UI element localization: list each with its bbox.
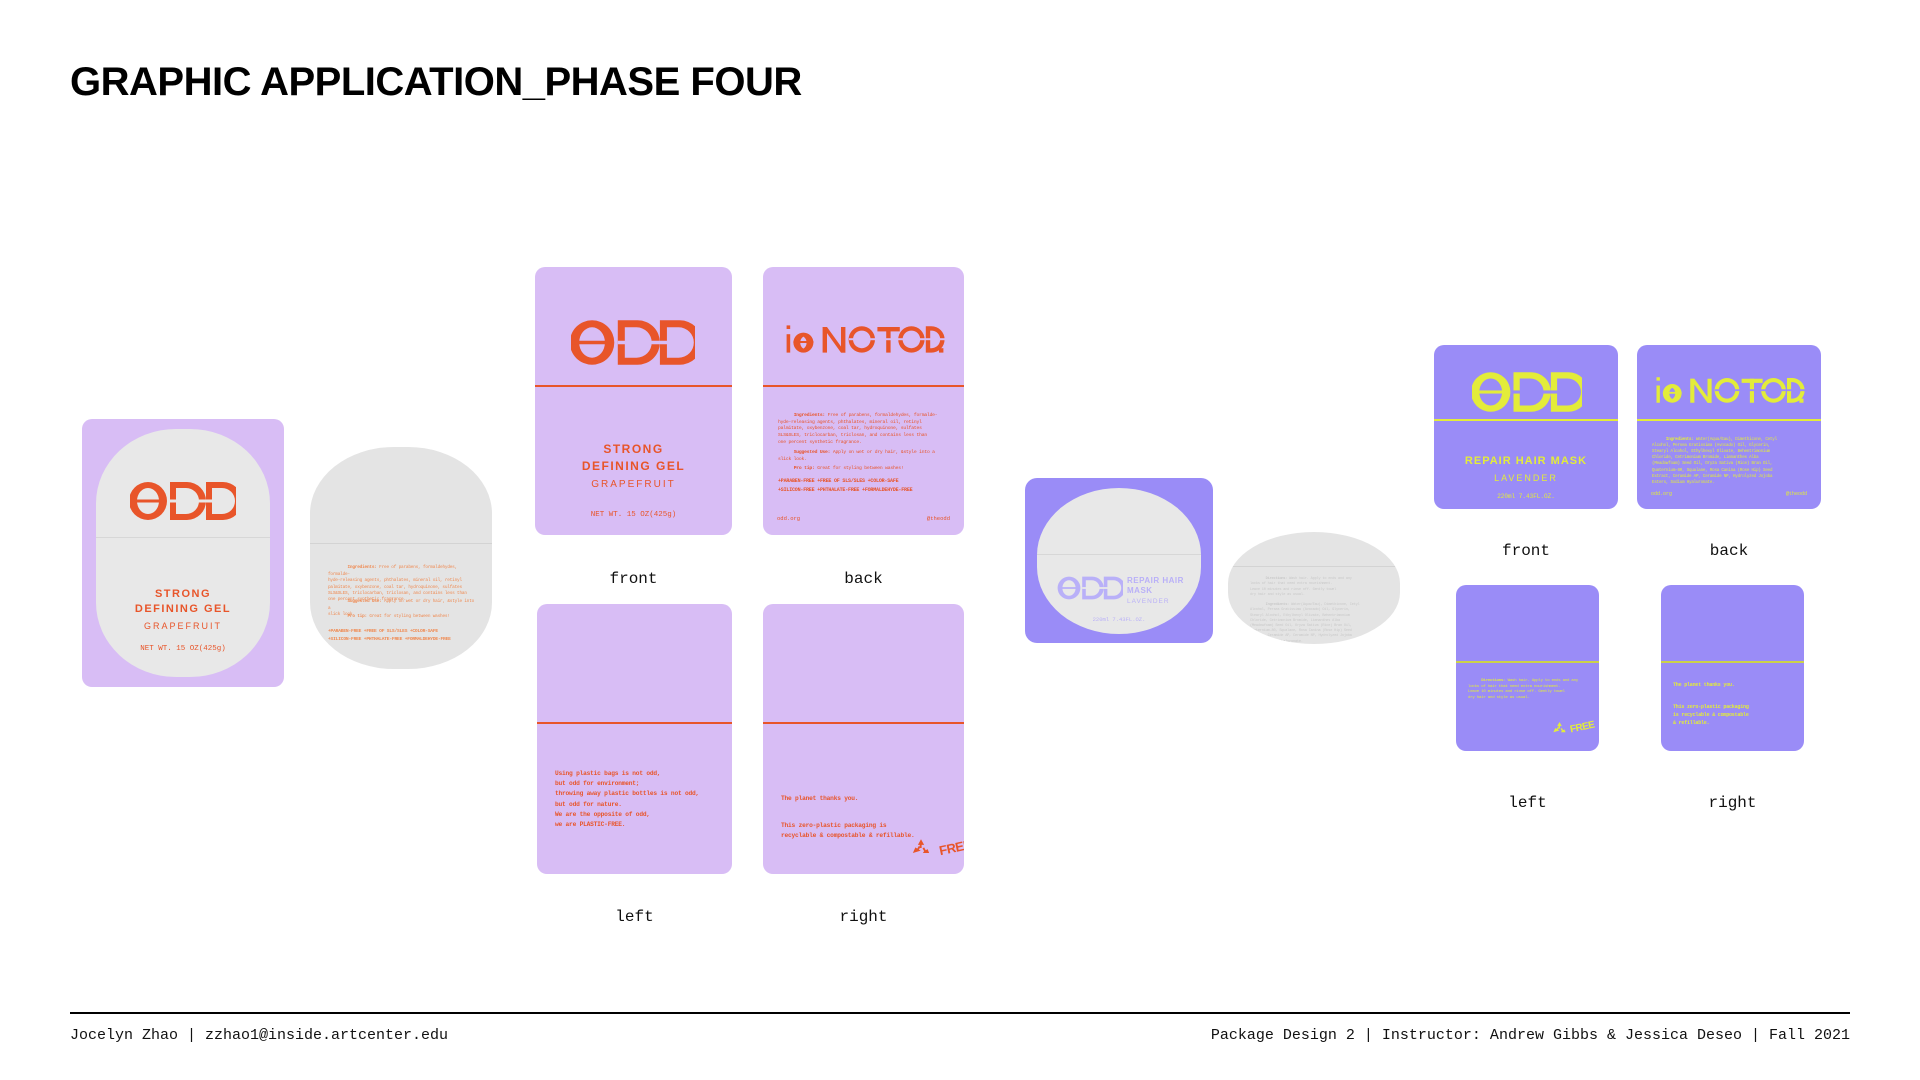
gel-scent: GRAPEFRUIT	[96, 621, 270, 631]
gel-panel-back: Ingredients: Free of parabens, formaldeh…	[763, 267, 964, 535]
mask-jar-front-mockup: REPAIR HAIR MASK LAVENDER 220ml 7.43FL.O…	[1025, 478, 1213, 643]
gel-net-weight: NET WT. 15 OZ(425g)	[535, 511, 732, 519]
presentation-slide: GRAPHIC APPLICATION_PHASE FOUR STRONG DE…	[0, 0, 1920, 1080]
caption-left: left	[1456, 794, 1599, 812]
mask-product-name: REPAIR HAIR MASK	[1434, 455, 1618, 467]
gel-panel-left: Using plastic bags is not odd, but odd f…	[537, 604, 732, 874]
gel-protip-label: Pro tip:	[347, 614, 366, 619]
mask-scent: LAVENDER	[1434, 473, 1618, 483]
mask-back-footer: odd.org @theodd	[1637, 491, 1821, 497]
mask-social-handle: @theodd	[1786, 491, 1807, 497]
gel-right-copy-line-1: The planet thanks you.	[781, 794, 961, 804]
odd-logo-icon	[1057, 576, 1123, 600]
caption-right: right	[1661, 794, 1804, 812]
gel-claims-line-1: +PARABEN-FREE +FREE OF SLS/SLES +COLOR-S…	[328, 629, 488, 636]
gel-product-name: STRONG DEFINING GEL	[96, 587, 270, 617]
gel-website: odd.org	[777, 515, 800, 522]
gel-claims-line-2: +SILICON-FREE +PHTHALATE-FREE +FORMALDEH…	[328, 637, 488, 644]
gel-protip-block: Pro tip: Great for styling between washe…	[778, 459, 956, 479]
mask-directions-label: Directions:	[1481, 679, 1505, 683]
gel-panel-front: STRONG DEFINING GEL GRAPEFRUIT NET WT. 1…	[535, 267, 732, 535]
mask-website: odd.org	[1651, 491, 1672, 497]
mask-ingredients-body: Water(Aqua/Eau), Dimethicone, Cetyl Alco…	[1652, 438, 1777, 485]
gel-jar-back-mockup: Ingredients: Free of parabens, formaldeh…	[310, 447, 492, 669]
gel-ingredients-label: Ingredients:	[347, 565, 376, 570]
jar-seam	[1037, 554, 1201, 555]
recycle-icon	[911, 838, 931, 858]
mask-right-divider	[1661, 661, 1804, 663]
mask-ingredients-block: Ingredients: Water(Aqua/Eau), Dimethicon…	[1652, 431, 1812, 492]
mask-directions-label: Directions:	[1266, 577, 1288, 581]
mask-panel-back: Ingredients: Water(Aqua/Eau), Dimethicon…	[1637, 345, 1821, 509]
gel-right-copy-line-2: This zero-plastic packaging is recyclabl…	[781, 821, 961, 841]
odd-logo-icon	[571, 319, 695, 366]
plastic-free-stamp-icon: FREE	[1569, 720, 1595, 736]
gel-use-label: Suggested Use:	[794, 450, 831, 455]
caption-back: back	[1637, 542, 1821, 560]
gel-net-weight: NET WT. 15 OZ(425g)	[96, 645, 270, 653]
jar-seam	[310, 543, 492, 544]
gel-jar-front-mockup: STRONG DEFINING GEL GRAPEFRUIT NET WT. 1…	[82, 419, 284, 687]
mask-scent: LAVENDER	[1127, 598, 1197, 605]
mask-ingredients-label: Ingredients:	[1666, 438, 1694, 442]
is-not-odd-logo-icon	[1655, 375, 1805, 405]
mask-right-copy-line-2: This zero-plastic packaging is recyclabl…	[1673, 703, 1799, 727]
gel-protip-body: Great for styling between washes!	[815, 466, 904, 471]
mask-left-divider	[1456, 661, 1599, 663]
gel-scent: GRAPEFRUIT	[535, 479, 732, 490]
plastic-free-stamp-label: FREE	[1569, 720, 1595, 736]
footer-student-info: Jocelyn Zhao | zzhao1@inside.artcenter.e…	[70, 1027, 448, 1044]
caption-left: left	[537, 908, 732, 926]
mask-right-copy-line-1: The planet thanks you.	[1673, 681, 1799, 689]
caption-back: back	[763, 570, 964, 588]
is-not-odd-logo-icon	[785, 323, 945, 355]
footer-course-info: Package Design 2 | Instructor: Andrew Gi…	[1211, 1027, 1850, 1044]
gel-right-divider	[763, 722, 964, 724]
jar-seam	[96, 537, 270, 538]
mask-net-volume: 220ml 7.43FL.OZ.	[1434, 493, 1618, 500]
gel-left-divider	[537, 722, 732, 724]
gel-back-divider	[763, 385, 964, 387]
odd-logo-icon	[130, 481, 236, 521]
mask-product-name: REPAIR HAIR MASK	[1127, 576, 1197, 596]
mask-jar-body: REPAIR HAIR MASK LAVENDER 220ml 7.43FL.O…	[1037, 488, 1201, 634]
gel-left-copy: Using plastic bags is not odd, but odd f…	[555, 769, 730, 830]
gel-protip-body: Great for styling between washes!	[367, 614, 450, 619]
gel-product-name: STRONG DEFINING GEL	[535, 441, 732, 475]
mask-jar-body-back: Directions: Wash hair. Apply to ends and…	[1228, 532, 1400, 644]
mask-ingredients-block: Ingredients: Water(Aqua/Eau), Dimethicon…	[1250, 598, 1382, 644]
mask-jar-back-mockup: Directions: Wash hair. Apply to ends and…	[1228, 532, 1400, 644]
gel-protip-block: Pro tip: Great for styling between washe…	[328, 608, 478, 627]
caption-front: front	[535, 570, 732, 588]
gel-ingredients-label: Ingredients:	[794, 413, 825, 418]
gel-social-handle: @theodd	[927, 515, 950, 522]
gel-front-divider	[535, 385, 732, 387]
mask-ingredients-label: Ingredients:	[1266, 603, 1289, 607]
gel-jar-body-back: Ingredients: Free of parabens, formaldeh…	[310, 447, 492, 669]
gel-protip-label: Pro tip:	[794, 466, 815, 471]
footer-divider	[70, 1012, 1850, 1014]
mask-panel-left: Directions: Wash hair. Apply to ends and…	[1456, 585, 1599, 751]
gel-jar-body: STRONG DEFINING GEL GRAPEFRUIT NET WT. 1…	[96, 429, 270, 677]
caption-front: front	[1434, 542, 1618, 560]
gel-claims-line-2: +SILICON-FREE +PHTHALATE-FREE +FORMALDEH…	[778, 487, 964, 494]
mask-ingredients-body: Water(Aqua/Eau), Dimethicone, Cetyl Alco…	[1250, 603, 1360, 643]
caption-right: right	[763, 908, 964, 926]
gel-claims-line-1: +PARABEN-FREE +FREE OF SLS/SLES +COLOR-S…	[778, 478, 964, 485]
odd-logo-icon	[1472, 371, 1582, 413]
gel-back-footer: odd.org @theodd	[763, 515, 964, 522]
gel-panel-right: The planet thanks you. This zero-plastic…	[763, 604, 964, 874]
mask-panel-front: REPAIR HAIR MASK LAVENDER 220ml 7.43FL.O…	[1434, 345, 1618, 509]
mask-directions-block: Directions: Wash hair. Apply to ends and…	[1468, 673, 1590, 708]
mask-back-divider	[1637, 419, 1821, 421]
recycle-icon	[1552, 721, 1567, 736]
mask-net-volume: 220ml 7.43FL.OZ.	[1037, 616, 1201, 623]
mask-front-divider	[1434, 419, 1618, 421]
jar-seam	[1228, 566, 1400, 567]
page-title: GRAPHIC APPLICATION_PHASE FOUR	[70, 60, 802, 105]
mask-panel-right: The planet thanks you. This zero-plastic…	[1661, 585, 1804, 751]
gel-use-label: Suggested Use:	[347, 599, 381, 604]
